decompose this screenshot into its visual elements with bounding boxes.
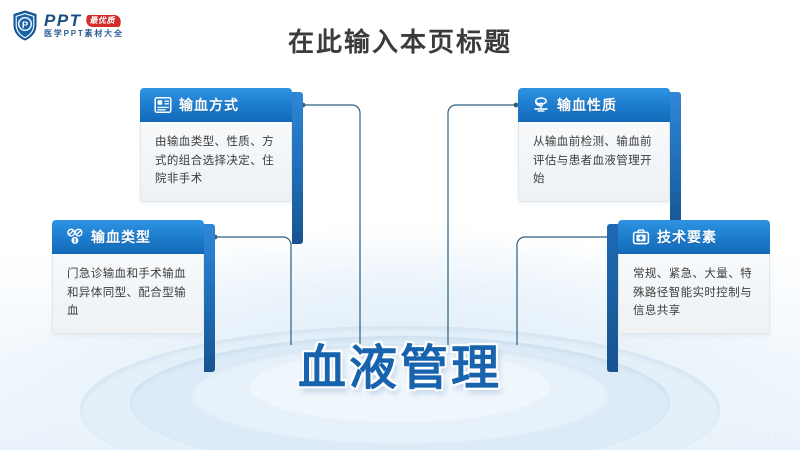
card-transfusion-nature[interactable]: 输血性质 从输血前检测、输血前评估与患者血液管理开始 [518,88,670,202]
card-3-title: 输血类型 [91,227,151,247]
card-2-header: 输血性质 [518,88,670,122]
card-2-title: 输血性质 [557,95,617,115]
card-1-header: 输血方式 [140,88,292,122]
card-4-title: 技术要素 [657,227,717,247]
list-document-icon [153,96,172,115]
medical-kit-icon [631,228,650,247]
card-transfusion-type[interactable]: 输血类型 门急诊输血和手术输血和异体同型、配合型输血 [52,220,204,334]
card-1-body: 由输血类型、性质、方式的组合选择决定、住院非手术 [140,122,292,202]
microscope-icon [531,96,550,115]
site-watermark: www.ppter.com [708,432,788,441]
center-keyword: 血液管理 [0,328,800,398]
card-4-header: 技术要素 [618,220,770,254]
card-3-body: 门急诊输血和手术输血和异体同型、配合型输血 [52,254,204,334]
pills-icon [65,228,84,247]
card-transfusion-method[interactable]: 输血方式 由输血类型、性质、方式的组合选择决定、住院非手术 [140,88,292,202]
card-technical-elements[interactable]: 技术要素 常规、紧急、大量、特殊路径智能实时控制与信息共享 [618,220,770,334]
card-1-title: 输血方式 [179,95,239,115]
card-2-body: 从输血前检测、输血前评估与患者血液管理开始 [518,122,670,202]
card-3-header: 输血类型 [52,220,204,254]
card-4-body: 常规、紧急、大量、特殊路径智能实时控制与信息共享 [618,254,770,334]
card-1-3d-edge [292,92,303,244]
card-2-3d-edge [670,92,681,232]
page-title: 在此输入本页标题 [0,22,800,59]
